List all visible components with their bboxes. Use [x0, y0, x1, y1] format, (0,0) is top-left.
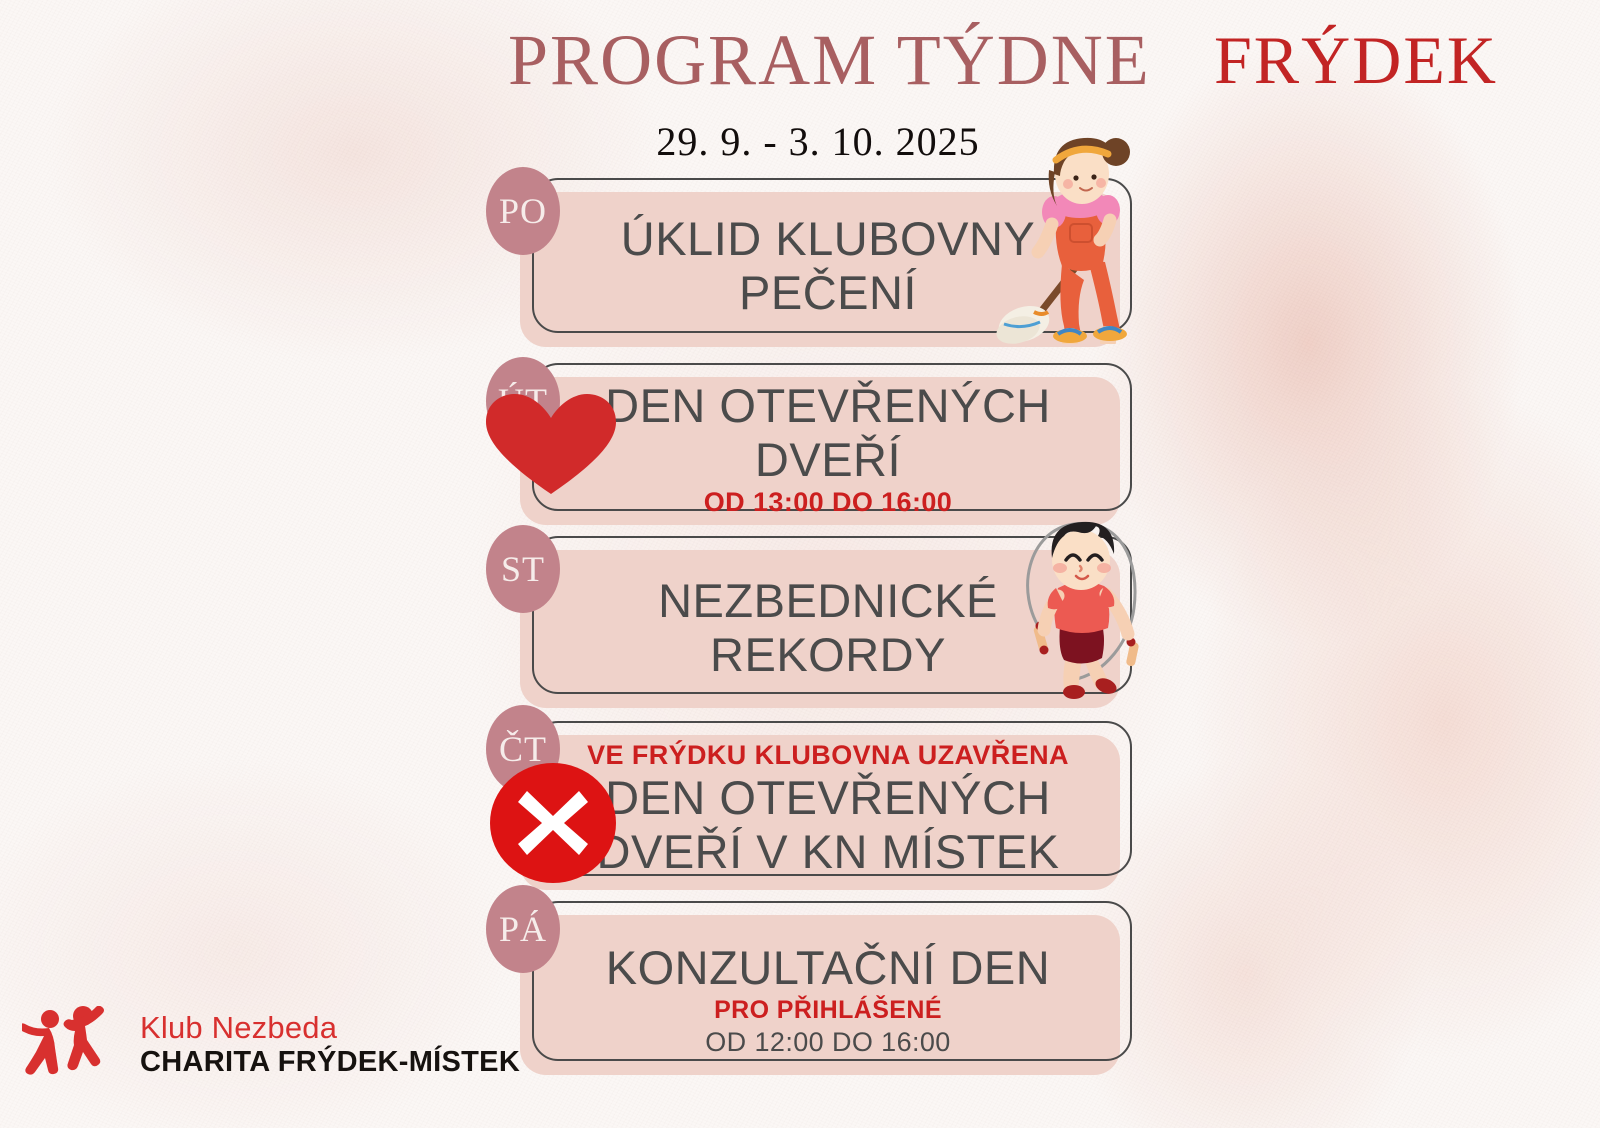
city-label: FRÝDEK: [1196, 26, 1516, 94]
day-badge-label: PO: [499, 193, 547, 229]
day-badge-po: PO: [486, 167, 560, 255]
day-line: DVEŘÍ V KN MÍSTEK: [532, 825, 1124, 879]
poster-canvas: PROGRAM TÝDNE FRÝDEK 29. 9. - 3. 10. 202…: [0, 0, 1600, 1128]
day-line: DEN OTEVŘENÝCH: [532, 771, 1124, 825]
day-badge-label: PÁ: [499, 911, 547, 947]
jump-rope-boy-illustration: [1010, 516, 1146, 702]
mop-girl-illustration: [996, 132, 1136, 344]
page-title: PROGRAM TÝDNE: [508, 24, 1128, 96]
day-line-time: OD 12:00 DO 16:00: [532, 1026, 1124, 1060]
day-line: KONZULTAČNÍ DEN: [532, 941, 1124, 995]
day-badge-pa: PÁ: [486, 885, 560, 973]
heart-icon: [484, 392, 618, 496]
day-line-time: OD 13:00 DO 16:00: [532, 486, 1124, 518]
org-name: Klub Nezbeda: [140, 1011, 520, 1045]
day-line: DVEŘÍ: [532, 433, 1124, 487]
footer-logo: Klub Nezbeda CHARITA FRÝDEK-MÍSTEK: [22, 1006, 520, 1083]
org-parent-name: CHARITA FRÝDEK-MÍSTEK: [140, 1047, 520, 1079]
x-close-icon: [489, 762, 617, 884]
day-line: DEN OTEVŘENÝCH: [532, 379, 1124, 433]
two-children-figures-logo: [22, 1006, 126, 1083]
day-line-notice: VE FRÝDKU KLUBOVNA UZAVŘENA: [532, 739, 1124, 771]
day-line-note: PRO PŘIHLÁŠENÉ: [532, 995, 1124, 1026]
day-badge-st: ST: [486, 525, 560, 613]
day-badge-label: ST: [501, 551, 545, 587]
